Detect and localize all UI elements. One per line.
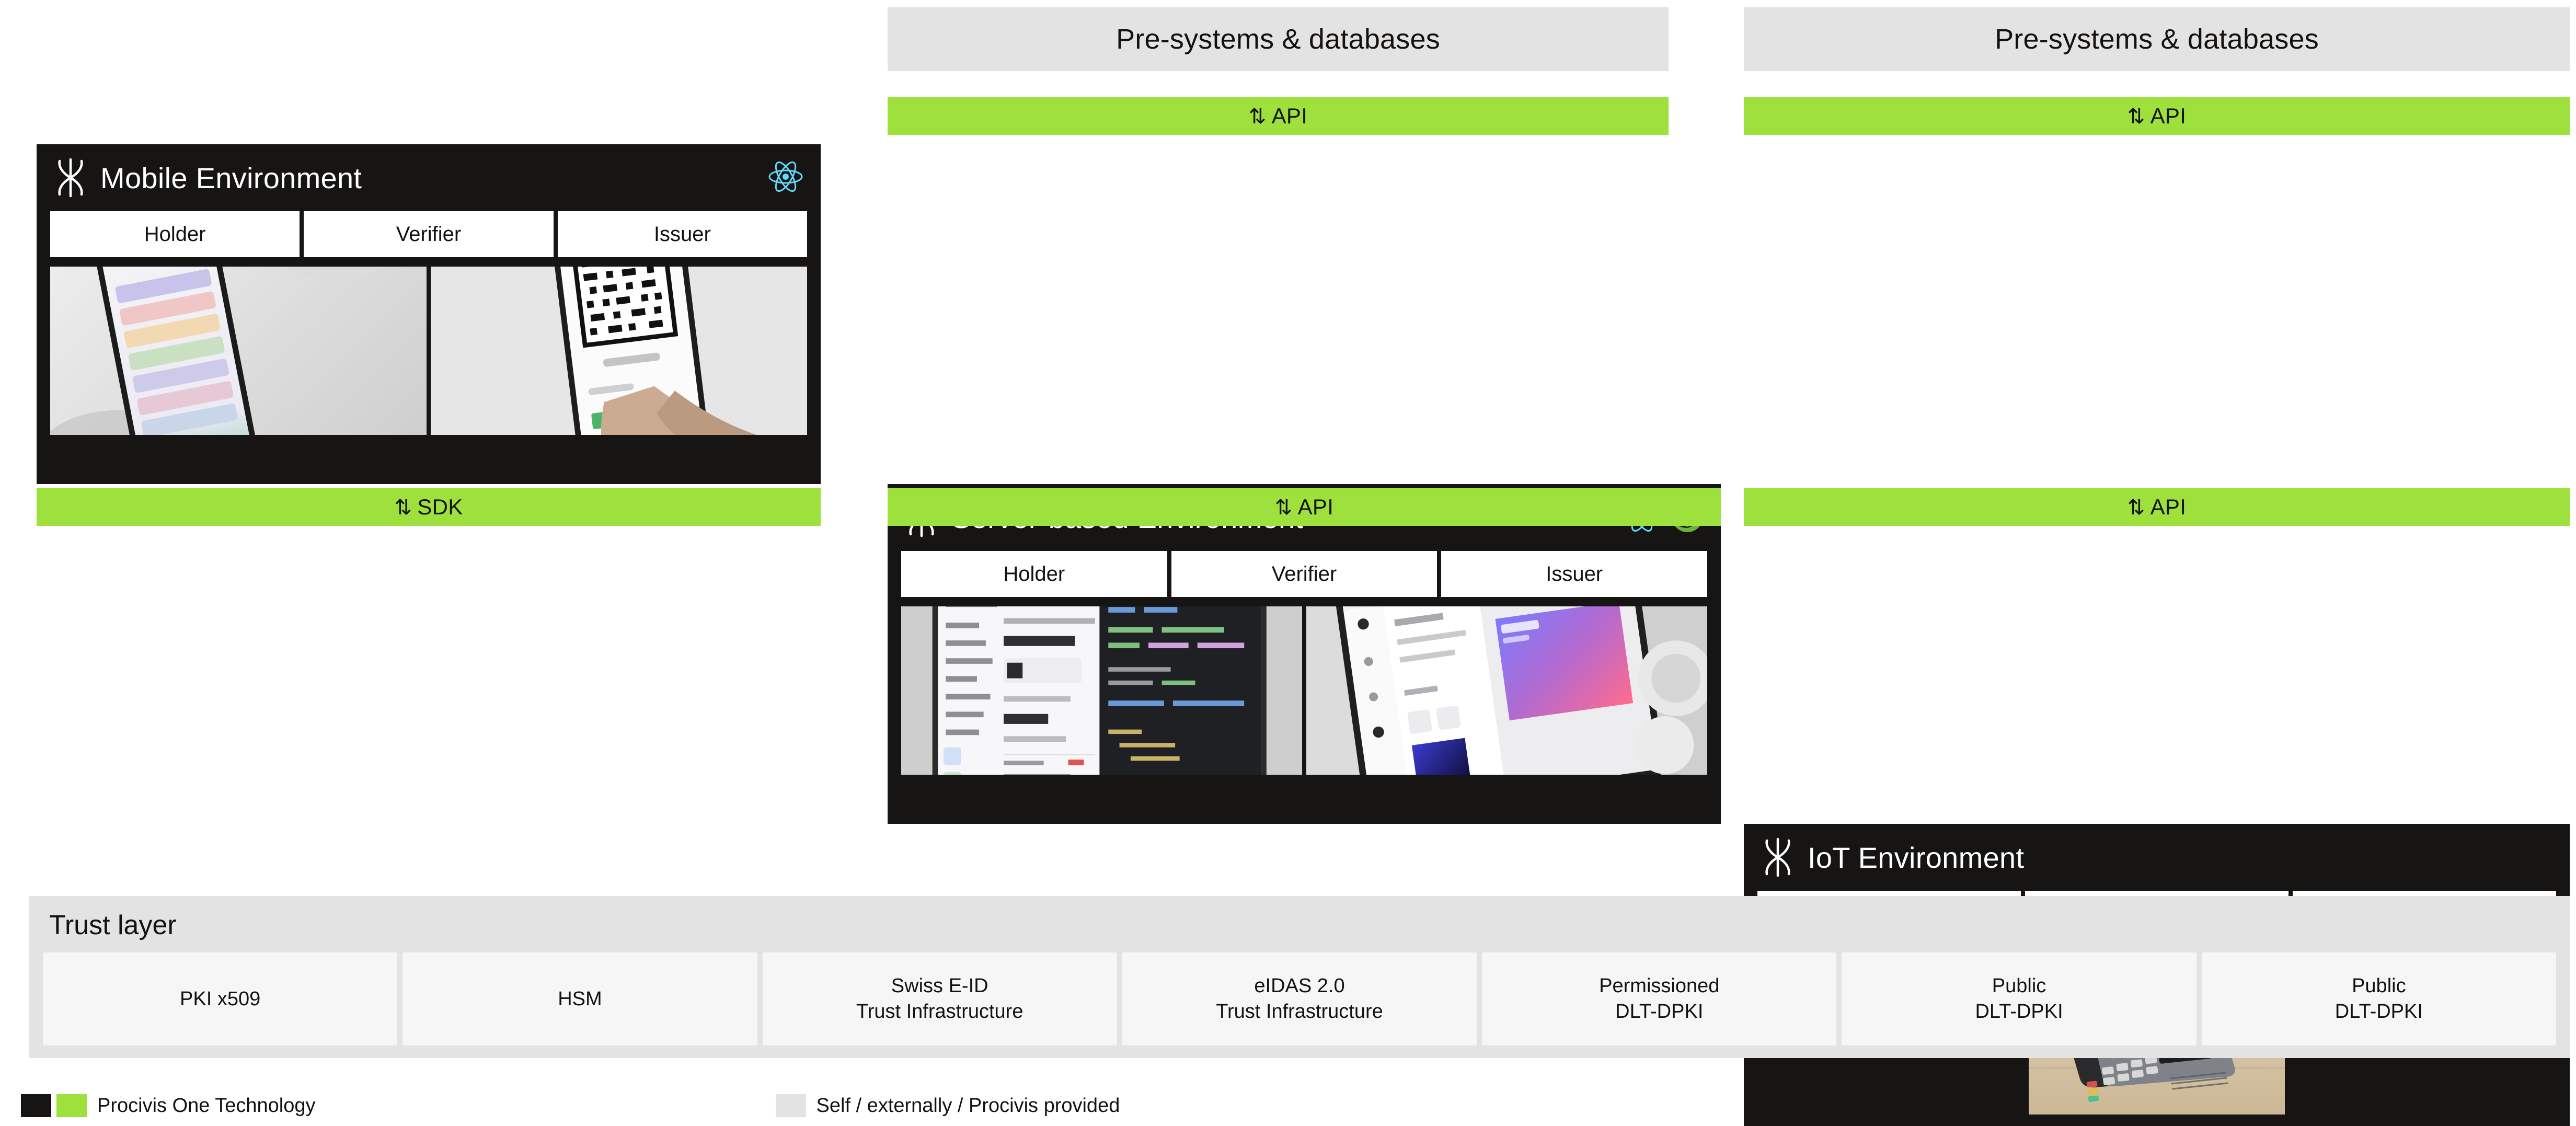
legend-label-left: Procivis One Technology [97,1095,316,1117]
tile-line-2: DLT-DPKI [1615,999,1703,1025]
trust-tile-permissioned-dlt[interactable]: Permissioned DLT-DPKI [1482,952,1836,1045]
screenshot-row-mobile [37,257,821,449]
environment-panel-mobile: Mobile Environment Holder Verifier [37,144,821,484]
tile-line-1: Public [2352,973,2406,999]
updown-arrows-icon: ⇅ [1275,496,1293,519]
presystems-label: Pre-systems & databases [1116,23,1440,55]
phone-credential-list-photo [50,267,427,435]
updown-arrows-icon: ⇅ [2127,105,2145,128]
tile-line-2: Trust Infrastructure [856,999,1023,1025]
desktop-admin-console-photo [901,606,1302,775]
api-bar-label: ⇅API [1249,104,1307,129]
tile-line-2: Trust Infrastructure [1216,999,1383,1025]
tile-line-1: Public [1992,973,2046,999]
trust-tile-pki-x509[interactable]: PKI x509 [43,952,397,1045]
legend-swatch-green-icon [56,1094,87,1117]
architecture-diagram: Pre-systems & databases Pre-systems & da… [0,0,2576,1126]
api-bar-server-top: ⇅API [888,97,1669,135]
react-icon [766,159,805,197]
environment-header-mobile: Mobile Environment [37,144,821,211]
role-row-server: Holder Verifier Issuer [888,551,1721,597]
role-issuer[interactable]: Issuer [1441,551,1707,597]
presystems-band-iot: Pre-systems & databases [1744,7,2570,71]
tile-line-2: DLT-DPKI [2335,999,2423,1025]
trust-layer-tiles: PKI x509 HSM Swiss E-ID Trust Infrastruc… [29,952,2570,1059]
role-holder[interactable]: Holder [901,551,1167,597]
trust-tile-swiss-eid[interactable]: Swiss E-ID Trust Infrastructure [763,952,1117,1045]
trust-tile-public-dlt-2[interactable]: Public DLT-DPKI [2202,952,2556,1045]
tile-line-1: Swiss E-ID [891,973,988,999]
sdk-bar-mobile: ⇅SDK [37,488,821,526]
screenshot-row-server [888,597,1721,788]
api-bar-label: ⇅API [2127,495,2186,520]
api-bar-label: ⇅API [1275,495,1333,520]
role-issuer[interactable]: Issuer [558,211,807,257]
tile-line-1: Permissioned [1599,973,1719,999]
trust-layer-panel: Trust layer PKI x509 HSM Swiss E-ID Trus… [29,896,2570,1058]
trust-layer-title: Trust layer [29,896,2570,952]
environment-title: Mobile Environment [100,161,362,195]
api-bar-label: ⇅API [2127,104,2186,129]
updown-arrows-icon: ⇅ [394,496,412,519]
role-holder[interactable]: Holder [50,211,300,257]
environment-panel-server: Server-based Environment [888,484,1721,824]
legend-item-self-provided: Self / externally / Procivis provided [776,1094,1120,1117]
trust-tile-eidas-2[interactable]: eIDAS 2.0 Trust Infrastructure [1122,952,1477,1045]
presystems-band-server: Pre-systems & databases [888,7,1669,71]
tile-line-1: eIDAS 2.0 [1254,973,1344,999]
phone-qr-code-photo [431,267,807,435]
legend-item-procivis-one: Procivis One Technology [21,1094,316,1117]
role-verifier[interactable]: Verifier [1171,551,1437,597]
role-verifier[interactable]: Verifier [304,211,553,257]
updown-arrows-icon: ⇅ [1249,105,1267,128]
api-bar-server: ⇅API [888,488,1721,526]
legend-label-right: Self / externally / Procivis provided [816,1095,1120,1117]
presystems-label: Pre-systems & databases [1995,23,2319,55]
trust-tile-hsm[interactable]: HSM [402,952,757,1045]
environment-header-iot: IoT Environment [1744,824,2570,891]
procivis-asterisk-icon [1762,837,1794,877]
api-bar-iot: ⇅API [1744,488,2570,526]
legend-swatch-gray-icon [776,1094,806,1117]
trust-tile-public-dlt-1[interactable]: Public DLT-DPKI [1842,952,2196,1045]
sdk-bar-label: ⇅SDK [394,495,463,520]
tile-line-2: DLT-DPKI [1975,999,2063,1025]
procivis-asterisk-icon [54,158,87,198]
api-bar-iot-top: ⇅API [1744,97,2570,135]
environment-title: IoT Environment [1808,841,2024,875]
role-row-mobile: Holder Verifier Issuer [37,211,821,257]
legend: Procivis One Technology Self / externall… [0,1086,2576,1125]
tile-line-1: HSM [558,986,602,1012]
updown-arrows-icon: ⇅ [2127,496,2145,519]
tile-line-1: PKI x509 [180,986,260,1012]
legend-swatch-black-icon [21,1094,51,1117]
laptop-design-tool-photo [1306,606,1707,775]
tech-logo-group [766,159,805,197]
